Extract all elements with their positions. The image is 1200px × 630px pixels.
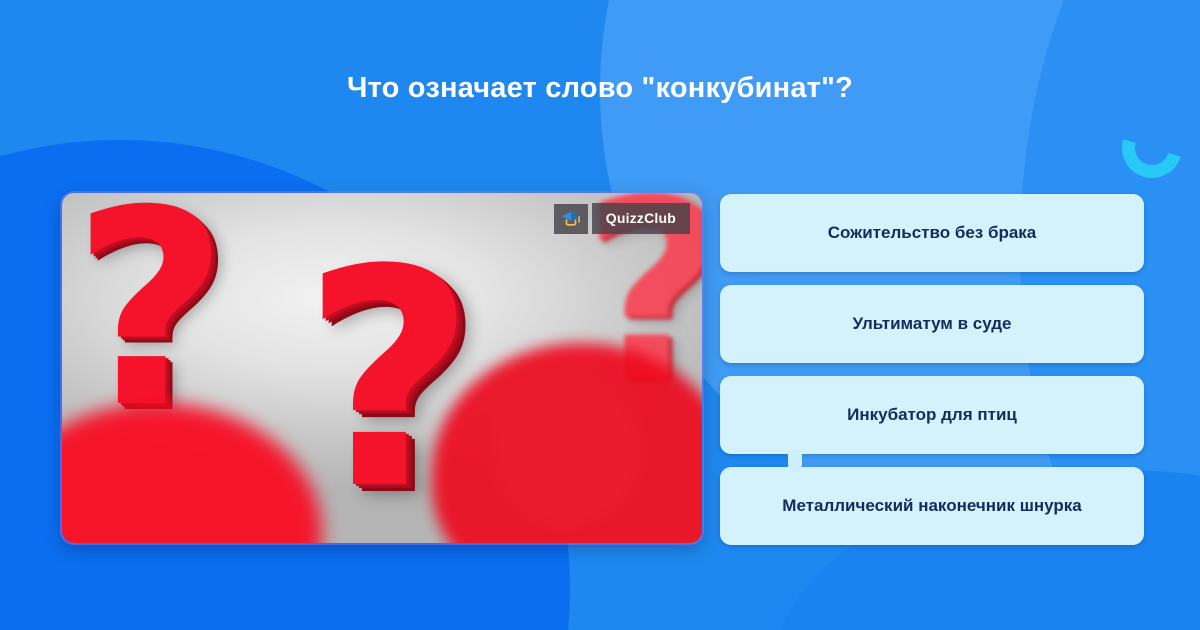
question-image: ? ? ? — [62, 193, 702, 543]
answer-option-2-label: Ультиматум в суде — [852, 313, 1011, 335]
answer-option-4-label: Металлический наконечник шнурка — [782, 495, 1081, 517]
answer-option-4[interactable]: Металлический наконечник шнурка — [720, 467, 1144, 545]
answer-option-3-label: Инкубатор для птиц — [847, 404, 1017, 426]
answer-options-list: Сожительство без брака Ультиматум в суде… — [720, 194, 1144, 545]
photo-blur-left-icon — [62, 403, 322, 543]
answer-option-1[interactable]: Сожительство без брака — [720, 194, 1144, 272]
quiz-card: Что означает слово "конкубинат"? ? ? ? Q… — [0, 0, 1200, 630]
answer-option-1-label: Сожительство без брака — [828, 222, 1037, 244]
question-title: Что означает слово "конкубинат"? — [0, 72, 1200, 105]
graduation-cap-icon — [554, 204, 588, 234]
brand-watermark: QuizzClub — [554, 203, 690, 234]
question-image-panel: ? ? ? QuizzClub — [62, 193, 702, 543]
answer-connector-icon — [788, 450, 802, 472]
answer-option-3[interactable]: Инкубатор для птиц — [720, 376, 1144, 454]
question-mark-center-icon: ? — [302, 231, 476, 531]
brand-name: QuizzClub — [592, 203, 690, 234]
answer-option-2[interactable]: Ультиматум в суде — [720, 285, 1144, 363]
